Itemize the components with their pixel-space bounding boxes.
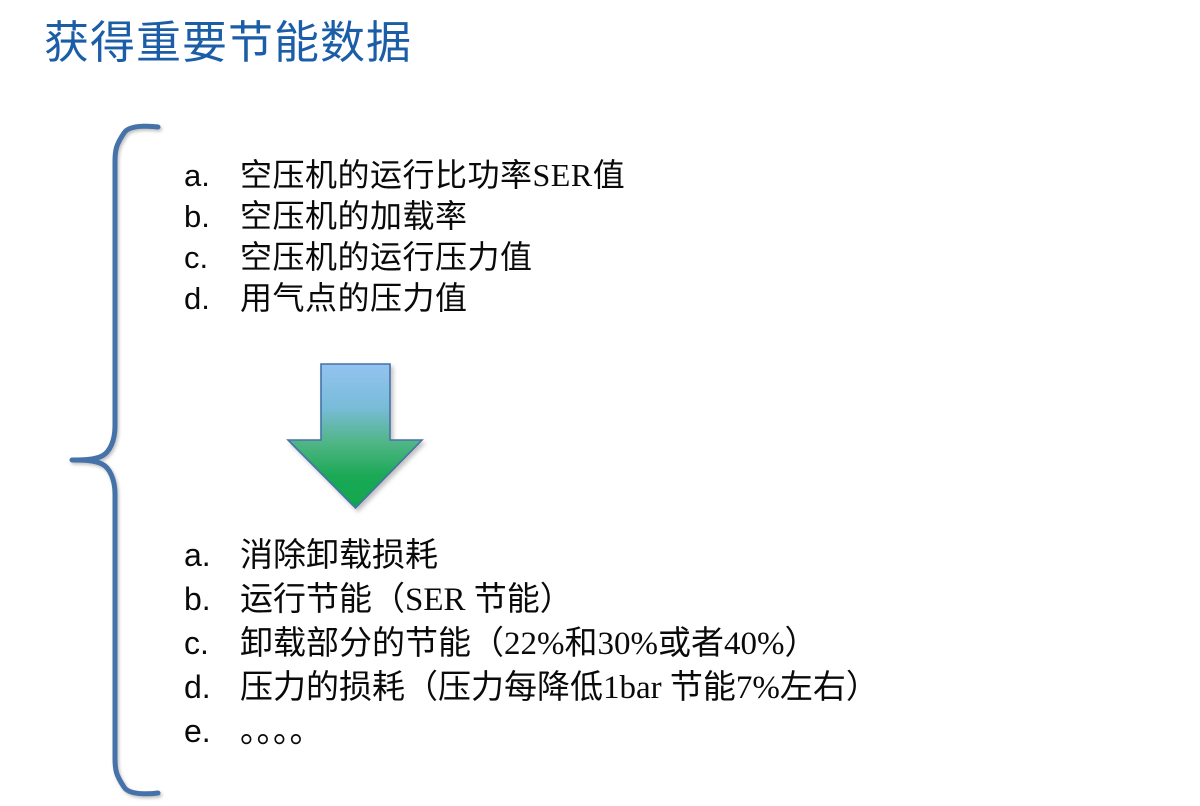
list-marker: d. xyxy=(184,669,240,706)
list-marker: d. xyxy=(184,281,240,317)
arrow-shape xyxy=(288,364,422,508)
list-item-label: 空压机的运行比功率SER值 xyxy=(240,150,625,196)
list-item: d. 压力的损耗（压力每降低1bar 节能7%左右） xyxy=(184,660,879,704)
slide-canvas: 获得重要节能数据 a. 空压机的运行比功率SER值 b. 空压机的加载率 c. … xyxy=(0,0,1200,806)
list-item-label: 压力的损耗（压力每降低1bar 节能7%左右） xyxy=(240,660,879,708)
down-arrow-icon xyxy=(282,358,430,516)
list-item-label: 运行节能（SER 节能） xyxy=(240,572,573,620)
list-marker: b. xyxy=(184,581,240,618)
list-marker: a. xyxy=(184,537,240,574)
list-marker: a. xyxy=(184,158,240,194)
list-item: e. 。。。。 xyxy=(184,704,879,748)
input-data-list: a. 空压机的运行比功率SER值 b. 空压机的加载率 c. 空压机的运行压力值… xyxy=(184,150,625,314)
brace-path xyxy=(72,126,158,794)
list-item: a. 空压机的运行比功率SER值 xyxy=(184,150,625,191)
page-title: 获得重要节能数据 xyxy=(44,14,412,72)
list-item-label: 空压机的运行压力值 xyxy=(240,232,533,278)
list-item-label: 用气点的压力值 xyxy=(240,273,468,319)
list-marker: b. xyxy=(184,199,240,235)
list-marker: e. xyxy=(184,713,240,750)
list-item: c. 卸载部分的节能（22%和30%或者40%） xyxy=(184,616,879,660)
list-item-label: 空压机的加载率 xyxy=(240,191,468,237)
list-marker: c. xyxy=(184,240,240,276)
list-item-label: 卸载部分的节能（22%和30%或者40%） xyxy=(240,616,817,664)
left-curly-brace xyxy=(58,110,178,800)
list-item: d. 用气点的压力值 xyxy=(184,273,625,314)
savings-result-list: a. 消除卸载损耗 b. 运行节能（SER 节能） c. 卸载部分的节能（22%… xyxy=(184,528,879,748)
list-item-label: 消除卸载损耗 xyxy=(240,528,438,576)
list-marker: c. xyxy=(184,625,240,662)
list-item: a. 消除卸载损耗 xyxy=(184,528,879,572)
list-item: b. 运行节能（SER 节能） xyxy=(184,572,879,616)
list-item: c. 空压机的运行压力值 xyxy=(184,232,625,273)
list-item-label: 。。。。 xyxy=(240,704,323,752)
list-item: b. 空压机的加载率 xyxy=(184,191,625,232)
